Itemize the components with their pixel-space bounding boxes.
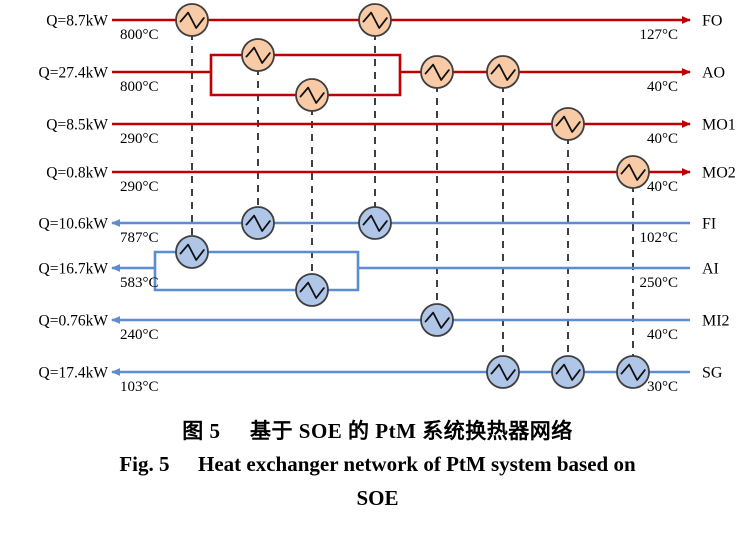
- duty-label-MO2: Q=0.8kW: [46, 165, 108, 182]
- exchanger-FI-258[interactable]: [242, 207, 274, 239]
- duty-label-SG: Q=17.4kW: [39, 365, 109, 382]
- exchanger-AO-437[interactable]: [421, 56, 453, 88]
- stream-name-MO1: MO1: [702, 117, 736, 134]
- caption-en-prefix: Fig. 5: [119, 452, 169, 476]
- target-temp-SG: 30°C: [647, 379, 678, 395]
- stream-labels-layer: Q=8.7kW800°C127°CFOQ=27.4kW800°C40°CAOQ=…: [39, 13, 736, 396]
- duty-label-FO: Q=8.7kW: [46, 13, 108, 30]
- exchanger-FI-375[interactable]: [359, 207, 391, 239]
- target-temp-FO: 127°C: [639, 27, 678, 43]
- supply-temp-SG: 103°C: [120, 379, 159, 395]
- stream-name-AI: AI: [702, 261, 719, 278]
- stream-name-AO: AO: [702, 65, 725, 82]
- supply-temp-FO: 800°C: [120, 27, 159, 43]
- stream-name-SG: SG: [702, 365, 723, 382]
- heat-exchanger-network-diagram: Q=8.7kW800°C127°CFOQ=27.4kW800°C40°CAOQ=…: [0, 0, 755, 410]
- exchanger-AO-branch-top[interactable]: [242, 39, 274, 71]
- figure-caption-english-line2: SOE: [0, 486, 755, 511]
- target-temp-AI: 250°C: [639, 275, 678, 291]
- figure-caption-english-line1: Fig. 5 Heat exchanger network of PtM sys…: [0, 452, 755, 477]
- target-temp-MO2: 40°C: [647, 179, 678, 195]
- supply-temp-MI2: 240°C: [120, 327, 159, 343]
- supply-temp-FI: 787°C: [120, 230, 159, 246]
- duty-label-AI: Q=16.7kW: [39, 261, 109, 278]
- duty-label-MO1: Q=8.5kW: [46, 117, 108, 134]
- figure-container: Q=8.7kW800°C127°CFOQ=27.4kW800°C40°CAOQ=…: [0, 0, 755, 550]
- supply-temp-MO2: 290°C: [120, 179, 159, 195]
- exchanger-AI-branch-bottom[interactable]: [296, 274, 328, 306]
- exchanger-MO2-633[interactable]: [617, 156, 649, 188]
- stream-name-MI2: MI2: [702, 313, 730, 330]
- exchanger-MO1-568[interactable]: [552, 108, 584, 140]
- figure-caption-chinese: 图 5 基于 SOE 的 PtM 系统换热器网络: [0, 415, 755, 445]
- target-temp-FI: 102°C: [639, 230, 678, 246]
- stream-name-MO2: MO2: [702, 165, 736, 182]
- target-temp-MO1: 40°C: [647, 131, 678, 147]
- exchanger-AO-branch-bottom[interactable]: [296, 79, 328, 111]
- exchanger-SG-633[interactable]: [617, 356, 649, 388]
- supply-temp-AI: 583°C: [120, 275, 159, 291]
- exchanger-MI2-437[interactable]: [421, 304, 453, 336]
- stream-name-FI: FI: [702, 216, 716, 233]
- duty-label-MI2: Q=0.76kW: [39, 313, 109, 330]
- duty-label-FI: Q=10.6kW: [39, 216, 109, 233]
- caption-en-text: Heat exchanger network of PtM system bas…: [198, 452, 636, 476]
- caption-cn-text: 基于 SOE 的 PtM 系统换热器网络: [250, 419, 573, 443]
- exchanger-FO-375[interactable]: [359, 4, 391, 36]
- exchanger-SG-503[interactable]: [487, 356, 519, 388]
- exchanger-AI-branch-top[interactable]: [176, 236, 208, 268]
- target-temp-MI2: 40°C: [647, 327, 678, 343]
- caption-cn-prefix: 图 5: [182, 419, 220, 443]
- exchanger-SG-568[interactable]: [552, 356, 584, 388]
- supply-temp-MO1: 290°C: [120, 131, 159, 147]
- stream-name-FO: FO: [702, 13, 722, 30]
- supply-temp-AO: 800°C: [120, 79, 159, 95]
- exchanger-FO-192[interactable]: [176, 4, 208, 36]
- exchangers-layer: [176, 4, 649, 388]
- exchanger-AO-503[interactable]: [487, 56, 519, 88]
- target-temp-AO: 40°C: [647, 79, 678, 95]
- duty-label-AO: Q=27.4kW: [39, 65, 109, 82]
